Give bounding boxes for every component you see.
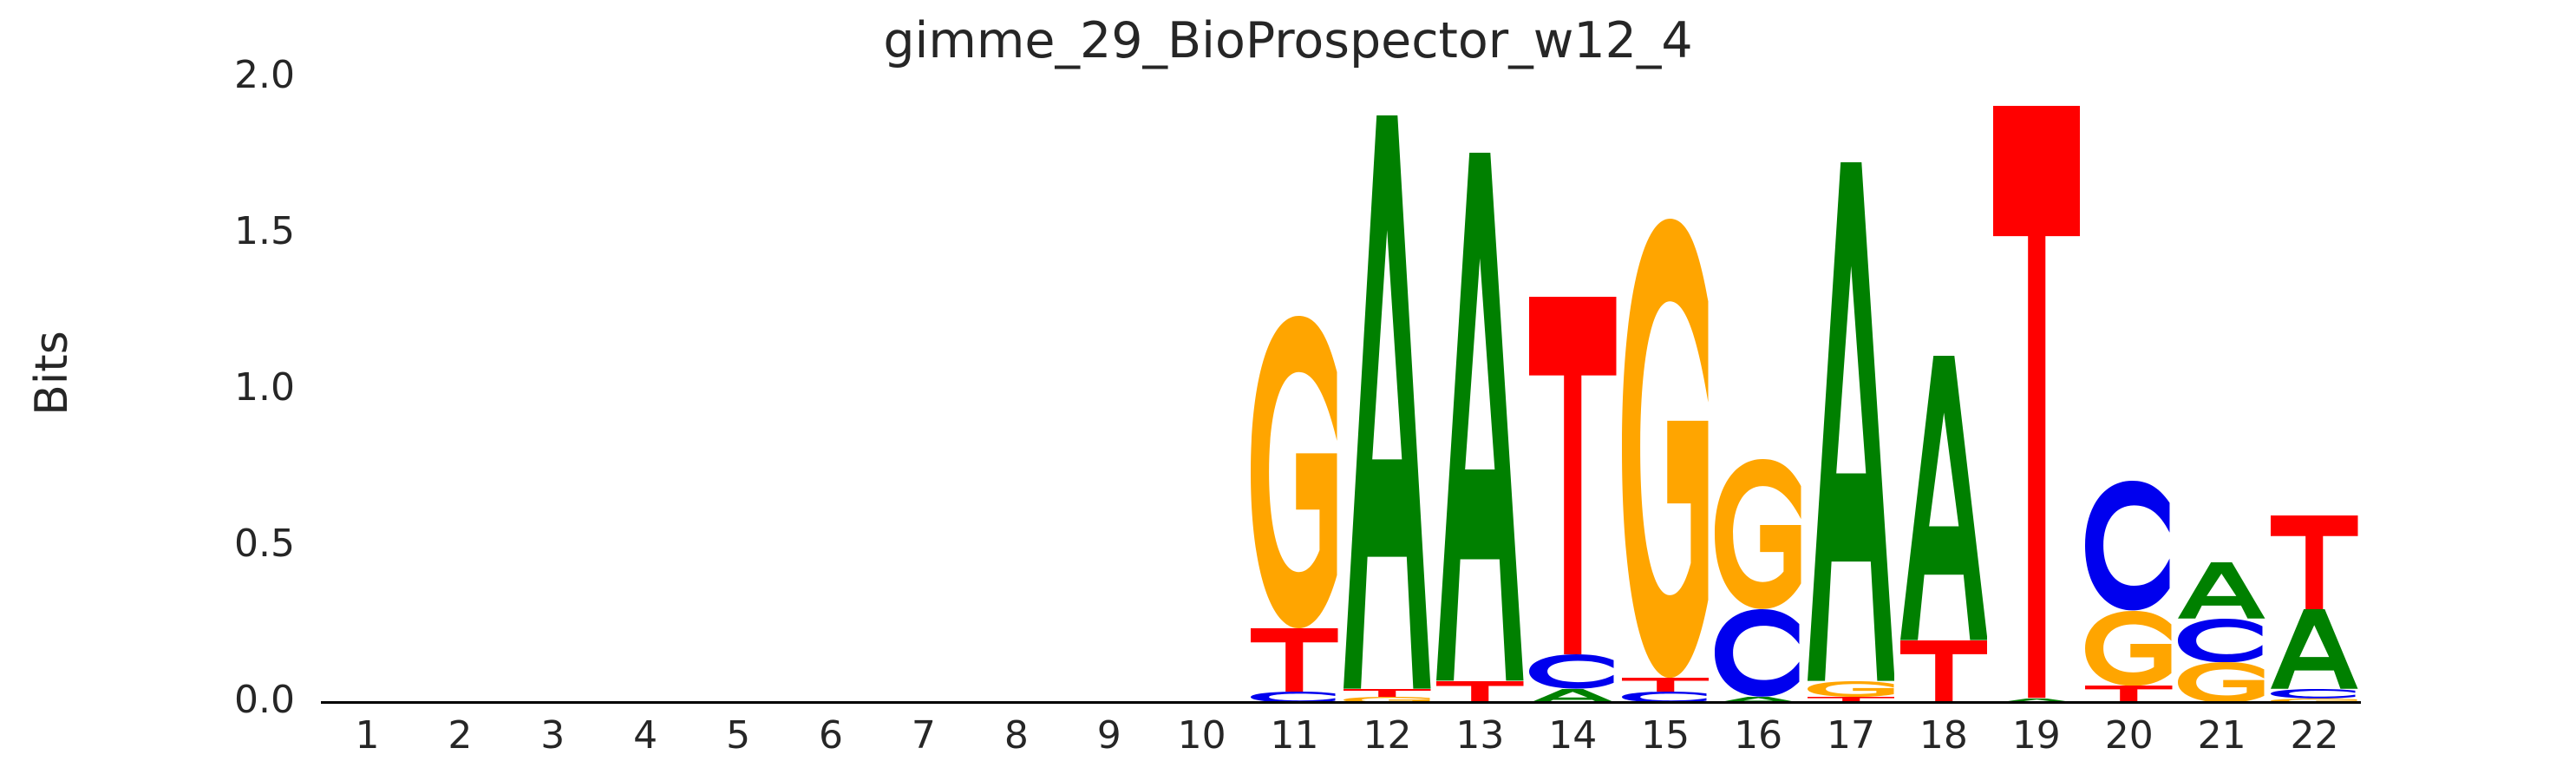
- x-axis-tick-label: 4: [633, 716, 657, 756]
- logo-letter-T: [1622, 678, 1709, 692]
- logo-letter-A: [1900, 356, 1987, 640]
- logo-plot-area: [321, 78, 2359, 703]
- page-title: gimme_29_BioProspector_w12_4: [0, 12, 2576, 69]
- x-axis-tick-label: 8: [1004, 716, 1029, 756]
- logo-letter-T: [1251, 628, 1337, 692]
- logo-position-8: [973, 78, 1060, 703]
- logo-position-11: [1251, 78, 1337, 703]
- logo-letter-A: [1436, 153, 1523, 680]
- x-axis-tick-label: 19: [2012, 716, 2061, 756]
- logo-letter-C: [2085, 481, 2172, 610]
- logo-letter-C: [2178, 619, 2265, 662]
- x-axis-ticks: 12345678910111213141516171819202122: [321, 716, 2361, 777]
- logo-letter-T: [1900, 640, 1987, 703]
- logo-letter-C: [1529, 654, 1616, 689]
- x-axis-tick-label: 20: [2105, 716, 2154, 756]
- logo-position-17: [1808, 78, 1894, 703]
- x-axis-tick-label: 2: [448, 716, 472, 756]
- logo-position-9: [1065, 78, 1152, 703]
- x-axis-line: [321, 701, 2361, 704]
- sequence-logo-figure: gimme_29_BioProspector_w12_4 Bits 0.00.5…: [0, 0, 2576, 781]
- logo-position-14: [1529, 78, 1616, 703]
- logo-position-21: [2178, 78, 2265, 703]
- logo-position-20: [2085, 78, 2172, 703]
- logo-letter-A: [1344, 115, 1430, 689]
- logo-letter-C: [1715, 609, 1801, 697]
- logo-letter-G: [1251, 316, 1337, 628]
- logo-position-12: [1344, 78, 1430, 703]
- y-axis-ticks: 0.00.51.01.52.0: [113, 0, 295, 781]
- logo-position-3: [509, 78, 596, 703]
- logo-letter-G: [1808, 681, 1894, 697]
- logo-position-13: [1436, 78, 1523, 703]
- logo-letter-G: [2085, 611, 2172, 686]
- x-axis-tick-label: 18: [1919, 716, 1968, 756]
- x-axis-tick-label: 15: [1641, 716, 1690, 756]
- y-axis-tick-label: 1.5: [147, 213, 295, 251]
- x-axis-tick-label: 16: [1734, 716, 1782, 756]
- logo-position-18: [1900, 78, 1987, 703]
- x-axis-tick-label: 17: [1827, 716, 1875, 756]
- logo-letter-T: [1436, 681, 1523, 703]
- logo-letter-A: [2271, 609, 2357, 689]
- x-axis-tick-label: 9: [1097, 716, 1121, 756]
- logo-position-10: [1158, 78, 1245, 703]
- x-axis-tick-label: 22: [2291, 716, 2339, 756]
- x-axis-tick-label: 21: [2198, 716, 2246, 756]
- y-axis-tick-label: 0.0: [147, 681, 295, 719]
- logo-letter-G: [1715, 459, 1801, 609]
- logo-position-22: [2271, 78, 2357, 703]
- x-axis-tick-label: 11: [1271, 716, 1319, 756]
- logo-letter-G: [1622, 219, 1709, 678]
- x-axis-tick-label: 5: [726, 716, 750, 756]
- x-axis-tick-label: 6: [819, 716, 843, 756]
- x-axis-tick-label: 14: [1548, 716, 1597, 756]
- logo-position-5: [695, 78, 781, 703]
- x-axis-tick-label: 1: [355, 716, 379, 756]
- logo-position-1: [324, 78, 410, 703]
- x-axis-tick-label: 13: [1455, 716, 1504, 756]
- x-axis-tick-label: 3: [540, 716, 565, 756]
- x-axis-tick-label: 10: [1178, 716, 1226, 756]
- logo-position-19: [1993, 78, 2080, 703]
- logo-position-4: [602, 78, 689, 703]
- logo-letter-T: [1344, 689, 1430, 697]
- logo-position-15: [1622, 78, 1709, 703]
- y-axis-tick-label: 0.5: [147, 525, 295, 563]
- logo-position-16: [1715, 78, 1801, 703]
- logo-letter-T: [2271, 515, 2357, 609]
- logo-letter-T: [1993, 106, 2080, 698]
- logo-position-7: [880, 78, 967, 703]
- logo-position-6: [788, 78, 874, 703]
- logo-position-2: [416, 78, 503, 703]
- logo-letter-C: [2271, 689, 2357, 699]
- logo-letter-A: [2178, 562, 2265, 619]
- y-axis-tick-label: 1.0: [147, 369, 295, 407]
- logo-letter-G: [2178, 662, 2265, 703]
- x-axis-tick-label: 12: [1363, 716, 1411, 756]
- logo-letter-A: [1808, 162, 1894, 681]
- x-axis-tick-label: 7: [912, 716, 936, 756]
- y-axis-label: Bits: [26, 243, 78, 503]
- y-axis-tick-label: 2.0: [147, 56, 295, 95]
- logo-letter-T: [1529, 297, 1616, 654]
